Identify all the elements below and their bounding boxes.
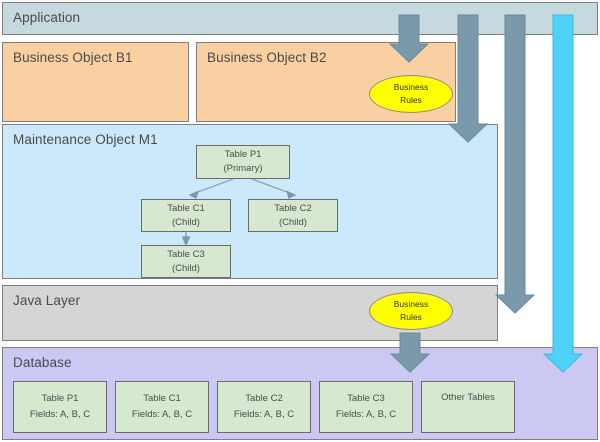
business-rules-badge-java-layer[interactable]: Business Rules (369, 292, 453, 330)
maintenance-table-c3-role: (Child) (172, 262, 200, 276)
business-rules-badge-business-object[interactable]: Business Rules (369, 75, 453, 113)
database-table-p1[interactable]: Table P1 Fields: A, B, C (13, 381, 107, 433)
database-table-c3-fields: Fields: A, B, C (336, 408, 396, 422)
maintenance-table-p1[interactable]: Table P1 (Primary) (196, 145, 290, 179)
database-table-other[interactable]: Other Tables (421, 381, 515, 433)
maintenance-table-c2-name: Table C2 (274, 202, 312, 216)
layer-application[interactable]: Application (2, 2, 598, 35)
maintenance-table-c1[interactable]: Table C1 (Child) (141, 199, 231, 232)
database-table-c2-fields: Fields: A, B, C (234, 408, 294, 422)
database-table-c2-name: Table C2 (245, 392, 283, 406)
layer-java-label: Java Layer (13, 293, 80, 308)
arrow-application-to-database (544, 15, 582, 372)
maintenance-table-c3-name: Table C3 (167, 248, 205, 262)
business-rules-line2: Rules (400, 311, 422, 324)
business-rules-line1: Business (394, 81, 429, 94)
database-table-p1-name: Table P1 (42, 392, 79, 406)
arrow-application-to-java-layer (496, 15, 534, 313)
business-object-b1-label: Business Object B1 (13, 50, 133, 65)
database-table-c1-fields: Fields: A, B, C (132, 408, 192, 422)
layer-application-label: Application (13, 10, 80, 25)
maintenance-table-c1-role: (Child) (172, 216, 200, 230)
maintenance-table-p1-name: Table P1 (225, 148, 262, 162)
maintenance-table-c2[interactable]: Table C2 (Child) (248, 199, 338, 232)
layer-database-label: Database (13, 355, 72, 370)
maintenance-table-c1-name: Table C1 (167, 202, 205, 216)
business-rules-line1: Business (394, 298, 429, 311)
database-table-p1-fields: Fields: A, B, C (30, 408, 90, 422)
business-object-b1[interactable]: Business Object B1 (2, 42, 189, 122)
database-table-c3[interactable]: Table C3 Fields: A, B, C (319, 381, 413, 433)
database-table-c3-name: Table C3 (347, 392, 385, 406)
maintenance-table-c3[interactable]: Table C3 (Child) (141, 245, 231, 278)
business-rules-line2: Rules (400, 94, 422, 107)
database-table-c1[interactable]: Table C1 Fields: A, B, C (115, 381, 209, 433)
maintenance-table-p1-role: (Primary) (223, 162, 262, 176)
business-object-b2-label: Business Object B2 (207, 50, 327, 65)
database-table-other-name: Other Tables (441, 391, 495, 405)
database-table-c1-name: Table C1 (143, 392, 181, 406)
layer-maintenance-object-label: Maintenance Object M1 (13, 132, 158, 147)
diagram-canvas: Application Business Object B1 Business … (0, 0, 600, 442)
maintenance-table-c2-role: (Child) (279, 216, 307, 230)
database-table-c2[interactable]: Table C2 Fields: A, B, C (217, 381, 311, 433)
